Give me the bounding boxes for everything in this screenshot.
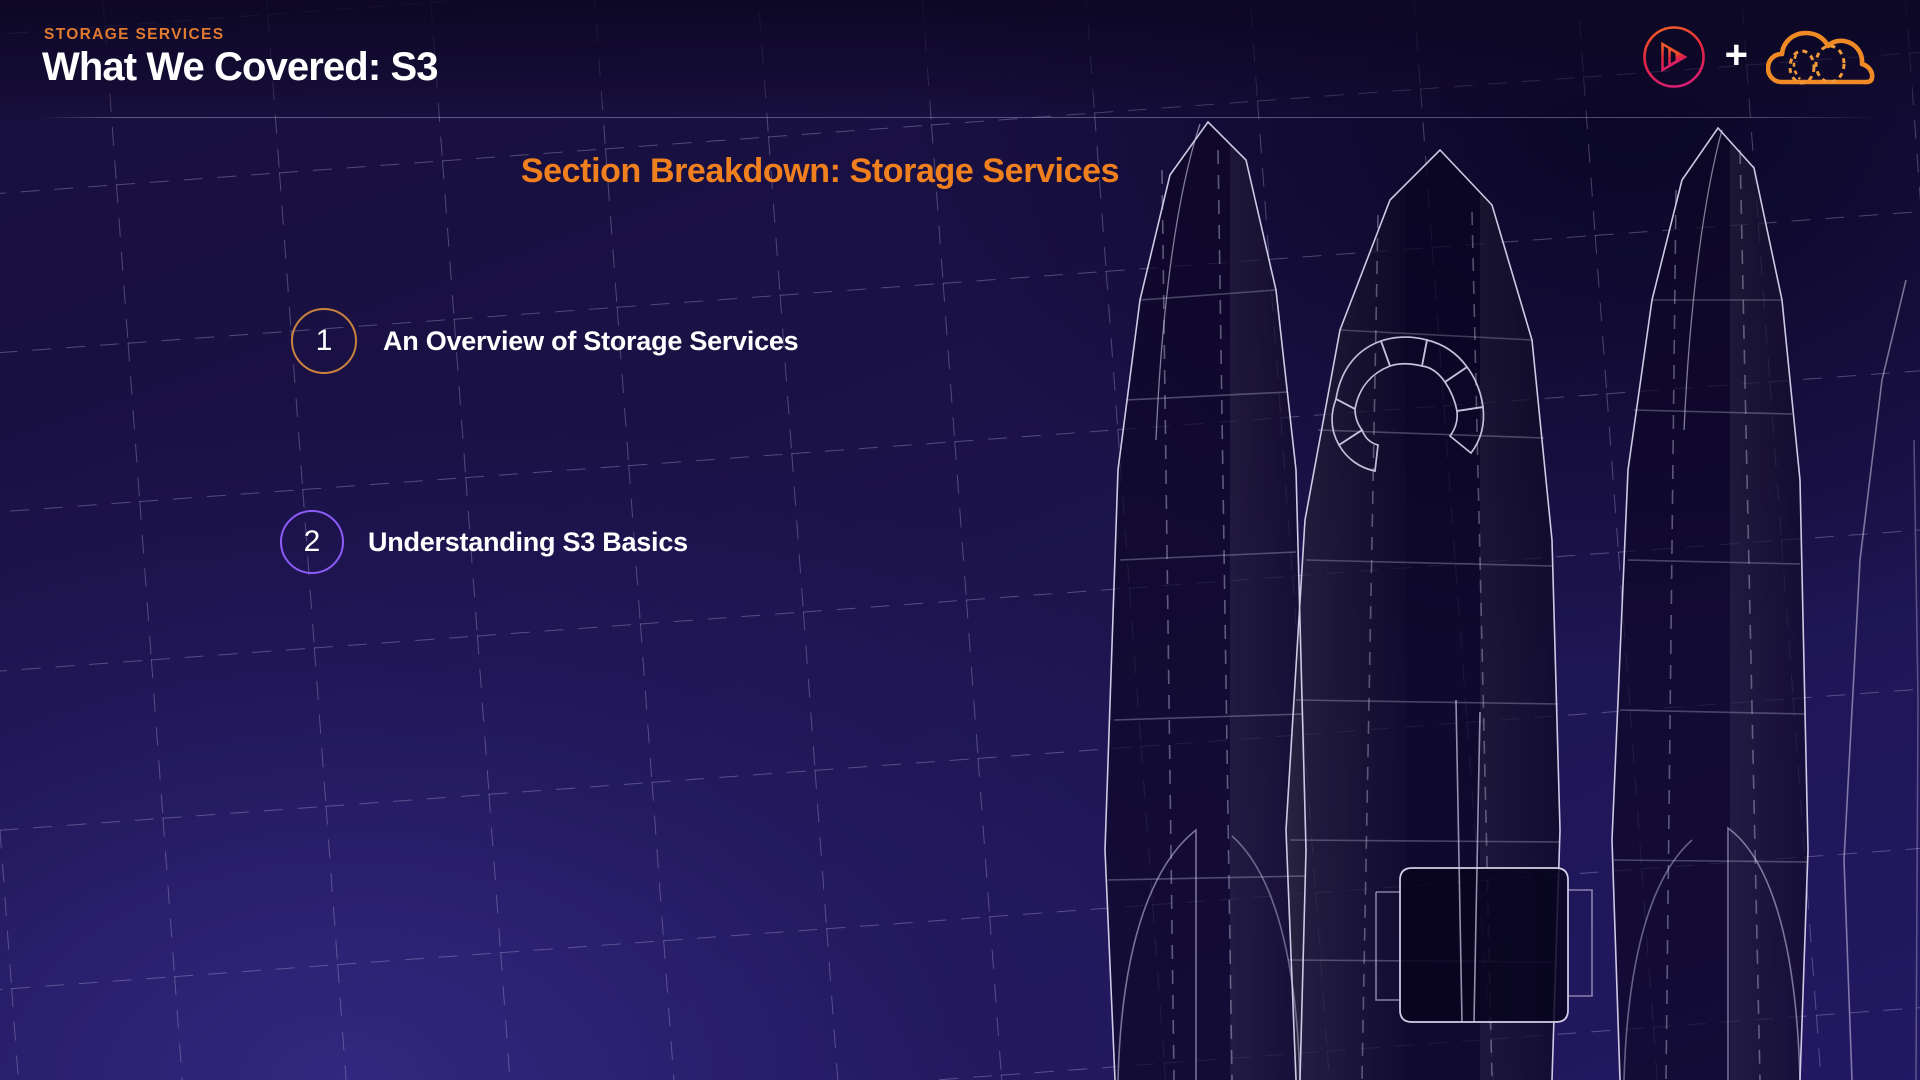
agenda-item-2[interactable]: 2 Understanding S3 Basics (280, 510, 688, 574)
agenda-number-badge-2: 2 (280, 510, 344, 574)
slide-header: STORAGE SERVICES What We Covered: S3 (0, 0, 1920, 118)
play-triangle-circle-icon[interactable] (1641, 24, 1707, 90)
agenda-number-badge-1: 1 (291, 308, 357, 374)
brand-lockup: + (1641, 18, 1876, 96)
plus-icon: + (1725, 35, 1748, 75)
agenda-item-label-2: Understanding S3 Basics (368, 527, 688, 558)
page-title: What We Covered: S3 (42, 45, 438, 90)
eyebrow-label: STORAGE SERVICES (44, 26, 224, 44)
header-divider (40, 117, 1880, 118)
agenda-item-label-1: An Overview of Storage Services (383, 326, 798, 357)
slide-canvas: STORAGE SERVICES What We Covered: S3 + (0, 0, 1920, 1080)
cloud-balloons-icon[interactable] (1766, 25, 1876, 89)
section-title: Section Breakdown: Storage Services (0, 152, 1640, 191)
agenda-item-1[interactable]: 1 An Overview of Storage Services (291, 308, 798, 374)
